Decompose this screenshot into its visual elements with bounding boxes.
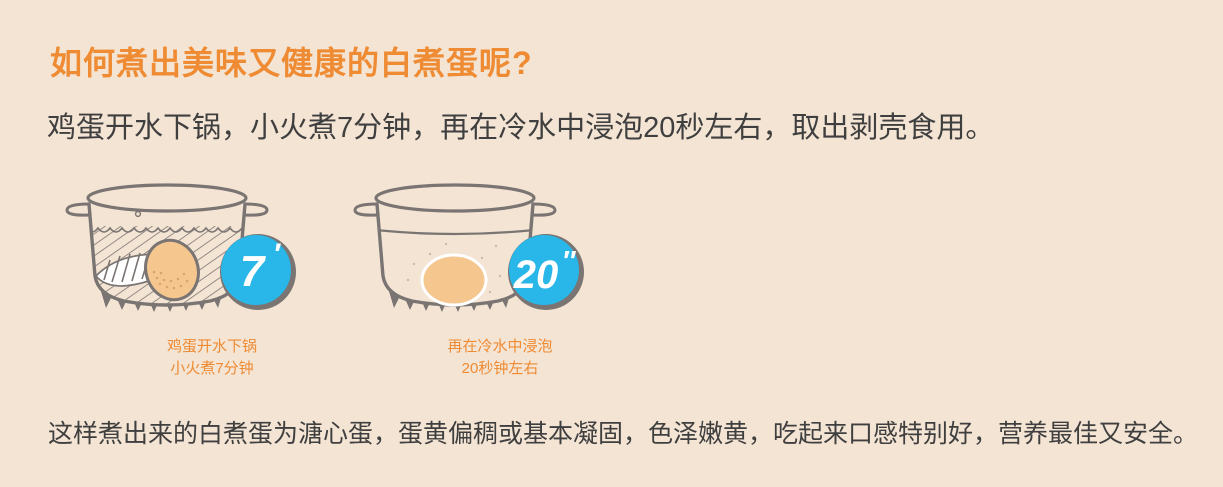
pot-handle-left — [67, 204, 89, 215]
pot-handle-right — [533, 204, 555, 215]
badge-unit: ″ — [563, 245, 576, 276]
caption-line-1: 再在冷水中浸泡 — [350, 336, 650, 358]
caption-line-2: 小火煮7分钟 — [62, 358, 362, 380]
step-soak: 20 ″ 再在冷水中浸泡 20秒钟左右 — [350, 168, 650, 388]
steps-row: 7 ′ 鸡蛋开水下锅 小火煮7分钟 — [0, 168, 1223, 388]
infographic-root: 如何煮出美味又健康的白煮蛋呢? 鸡蛋开水下锅，小火煮7分钟，再在冷水中浸泡20秒… — [0, 0, 1223, 487]
badge-unit: ′ — [274, 238, 281, 271]
step-soak-caption: 再在冷水中浸泡 20秒钟左右 — [350, 336, 650, 380]
cold-water-pot-illustration: 20 ″ — [350, 168, 650, 318]
boiling-pot-illustration: 7 ′ — [62, 168, 362, 318]
caption-line-1: 鸡蛋开水下锅 — [62, 336, 362, 358]
step-boil: 7 ′ 鸡蛋开水下锅 小火煮7分钟 — [62, 168, 362, 388]
timer-badge-7: 7 ′ — [220, 234, 296, 310]
pot-handle-right — [245, 204, 267, 215]
egg — [422, 255, 486, 305]
pot-rim — [376, 185, 534, 211]
page-title: 如何煮出美味又健康的白煮蛋呢? — [50, 44, 533, 82]
pot-handle-left — [355, 204, 377, 215]
pot-rim — [88, 185, 246, 211]
step-boil-caption: 鸡蛋开水下锅 小火煮7分钟 — [62, 336, 362, 380]
badge-value: 7 — [240, 247, 267, 296]
badge-value: 20 — [513, 253, 559, 297]
caption-line-2: 20秒钟左右 — [350, 358, 650, 380]
timer-badge-20: 20 ″ — [508, 234, 584, 310]
footer-paragraph: 这样煮出来的白煮蛋为溏心蛋，蛋黄偏稠或基本凝固，色泽嫩黄，吃起来口感特别好，营养… — [48, 418, 1198, 451]
intro-paragraph: 鸡蛋开水下锅，小火煮7分钟，再在冷水中浸泡20秒左右，取出剥壳食用。 — [47, 110, 994, 148]
